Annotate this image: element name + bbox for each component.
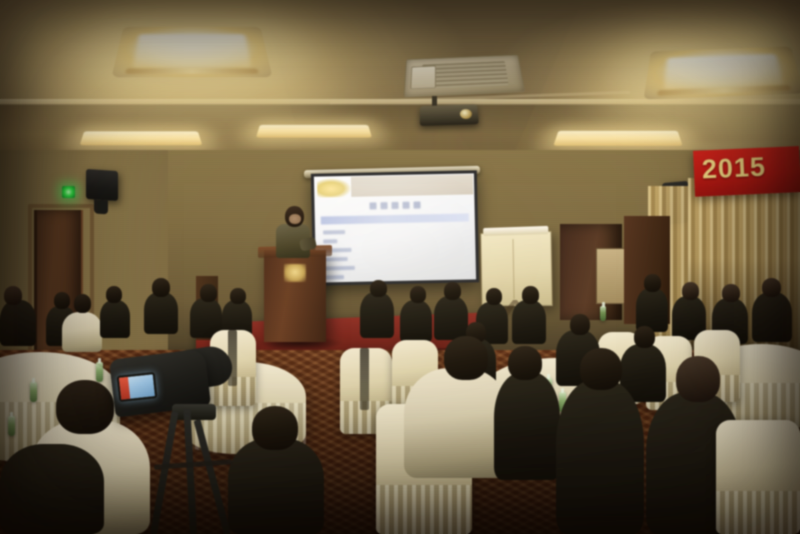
podium-emblem-icon <box>284 264 306 282</box>
vent-louver <box>410 65 436 89</box>
recessed-panel-light <box>553 131 682 146</box>
audience-member-foreground <box>0 444 104 534</box>
audience-head <box>676 356 720 402</box>
water-bottle <box>30 382 37 402</box>
slide-bullet <box>324 275 344 279</box>
recessed-panel-light <box>80 131 203 145</box>
wall-speaker-left <box>86 169 118 201</box>
audience-head <box>410 286 426 303</box>
podium <box>264 250 326 342</box>
tripod-head <box>172 404 216 420</box>
title-glyph <box>402 202 409 209</box>
title-glyph <box>369 202 376 209</box>
camera-tripod <box>138 408 248 534</box>
tripod-leg <box>150 411 178 534</box>
audience-member <box>360 292 394 338</box>
light-diffuser <box>132 34 251 68</box>
audience-head <box>508 346 542 380</box>
title-glyph <box>391 202 398 209</box>
audience-member <box>752 292 792 342</box>
conference-hall-photo: 2015 <box>0 0 800 534</box>
audience-head <box>444 282 461 300</box>
ceiling-projector <box>420 104 479 126</box>
audience-head <box>200 284 217 302</box>
audience-head <box>570 314 590 335</box>
air-conditioning-vent-icon <box>403 54 525 97</box>
event-banner: 2015 <box>693 146 800 197</box>
projector-lens-icon <box>460 109 473 119</box>
water-bottle <box>600 306 606 321</box>
audience-head <box>4 286 22 305</box>
light-diffuser <box>664 54 784 91</box>
ceiling-light-fixture-right <box>643 46 800 99</box>
presenter-face <box>289 214 301 224</box>
flipchart-clamp <box>483 226 548 236</box>
audience-head <box>56 380 114 434</box>
audience-head <box>682 282 699 300</box>
slide-logo-icon <box>317 178 351 198</box>
audience-head <box>54 292 70 309</box>
audience-head <box>486 288 502 305</box>
audience-member <box>100 300 130 338</box>
audience-head <box>580 348 622 390</box>
audience-member-foreground <box>556 380 644 534</box>
audience-head <box>762 278 781 297</box>
title-glyph <box>380 202 387 209</box>
exit-sign-icon <box>62 186 75 198</box>
banquet-chair-foreground <box>716 420 800 534</box>
slide-bullet <box>324 266 355 271</box>
water-bottle <box>96 362 103 382</box>
audience-head <box>252 406 298 450</box>
audience-head <box>106 286 122 303</box>
chair-sash <box>360 348 369 410</box>
slide-bullet <box>324 257 348 262</box>
audience-member-foreground <box>494 372 560 480</box>
slide-highlight-row <box>321 213 469 224</box>
slide-bullet <box>323 239 337 243</box>
audience-member <box>434 296 468 340</box>
slide-surface <box>314 173 476 282</box>
slide-title <box>314 198 474 212</box>
slide-header-band <box>351 174 473 197</box>
audience-member <box>0 300 36 346</box>
audience-head <box>230 288 246 304</box>
tripod-leg <box>194 419 231 534</box>
banner-text: 2015 <box>701 152 766 186</box>
flipchart-crease <box>513 239 515 299</box>
water-bottle <box>8 416 15 436</box>
audience-head <box>644 274 661 292</box>
audience-head <box>522 286 539 304</box>
audience-head <box>444 336 488 380</box>
ceiling-light-fixture-left <box>111 27 272 77</box>
audience-head <box>74 294 91 313</box>
audience-head <box>152 278 170 297</box>
light-trim <box>125 68 259 74</box>
camera-lcd-screen <box>117 372 158 402</box>
audience-member <box>144 292 178 334</box>
audience-head <box>370 280 387 297</box>
audience-member <box>400 300 432 342</box>
audience-head <box>634 326 655 348</box>
slide-bullet <box>323 230 345 234</box>
projection-screen <box>311 170 479 285</box>
audience-member <box>62 312 102 352</box>
title-glyph <box>413 201 420 208</box>
audience-member <box>512 300 546 344</box>
audience-head <box>722 284 740 302</box>
recessed-panel-light <box>256 125 372 138</box>
lcd-color-bar <box>119 377 130 400</box>
